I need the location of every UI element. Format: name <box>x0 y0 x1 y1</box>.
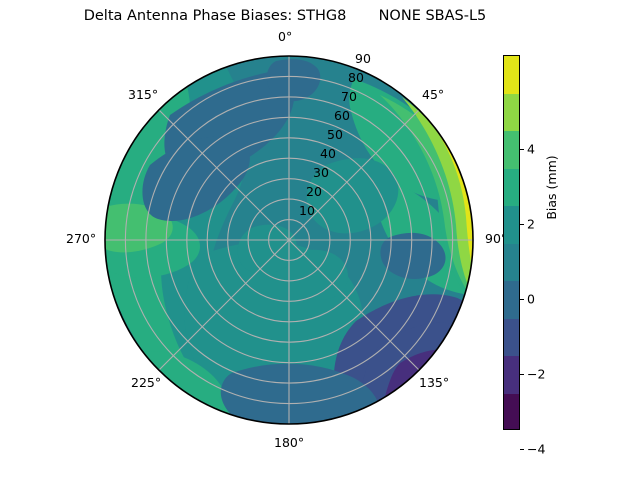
theta-tick-270: 270° <box>66 233 96 246</box>
r-tick-90: 90 <box>355 53 371 66</box>
colorbar-tick-label-0: 0 <box>527 291 535 306</box>
colorbar-tick-mark-2 <box>520 224 524 225</box>
colorbar-gradient <box>503 55 520 430</box>
colorbar-band-6 <box>504 169 519 207</box>
theta-tick-135: 135° <box>419 377 449 390</box>
r-tick-80: 80 <box>348 72 364 85</box>
r-tick-10: 10 <box>299 205 315 218</box>
colorbar-tick-label-2: 2 <box>527 216 535 231</box>
colorbar-tick-mark-0 <box>520 299 524 300</box>
colorbar-band-8 <box>504 94 519 132</box>
colorbar-tick-label-4: 4 <box>527 141 535 156</box>
colorbar-band-4 <box>504 244 519 282</box>
colorbar-band-3 <box>504 281 519 319</box>
colorbar-tick-mark-4 <box>520 149 524 150</box>
chart-title: Delta Antenna Phase Biases: STHG8 NONE S… <box>0 8 570 24</box>
theta-tick-180: 180° <box>274 437 304 450</box>
theta-tick-315: 315° <box>128 89 158 102</box>
polar-contour-plot <box>104 55 474 425</box>
polar-grid <box>105 56 473 424</box>
colorbar-tick-mark-m4 <box>520 449 524 450</box>
r-tick-30: 30 <box>313 167 329 180</box>
colorbar: 4 2 0 −2 −4 <box>503 55 520 430</box>
colorbar-band-0 <box>504 394 519 431</box>
colorbar-tick-mark-m2 <box>520 374 524 375</box>
r-tick-70: 70 <box>341 91 357 104</box>
colorbar-band-9 <box>504 56 519 94</box>
polar-axes <box>104 55 474 425</box>
theta-tick-0: 0° <box>278 31 292 44</box>
colorbar-band-7 <box>504 131 519 169</box>
theta-tick-45: 45° <box>422 89 444 102</box>
colorbar-axis-label: Bias (mm) <box>543 0 560 375</box>
colorbar-band-2 <box>504 319 519 357</box>
r-tick-40: 40 <box>320 148 336 161</box>
figure-canvas: Delta Antenna Phase Biases: STHG8 NONE S… <box>0 0 640 480</box>
r-tick-20: 20 <box>306 186 322 199</box>
r-tick-60: 60 <box>334 110 350 123</box>
colorbar-band-1 <box>504 356 519 394</box>
theta-tick-225: 225° <box>131 377 161 390</box>
r-tick-50: 50 <box>327 129 343 142</box>
colorbar-tick-label-m4: −4 <box>527 441 545 456</box>
colorbar-band-5 <box>504 206 519 244</box>
